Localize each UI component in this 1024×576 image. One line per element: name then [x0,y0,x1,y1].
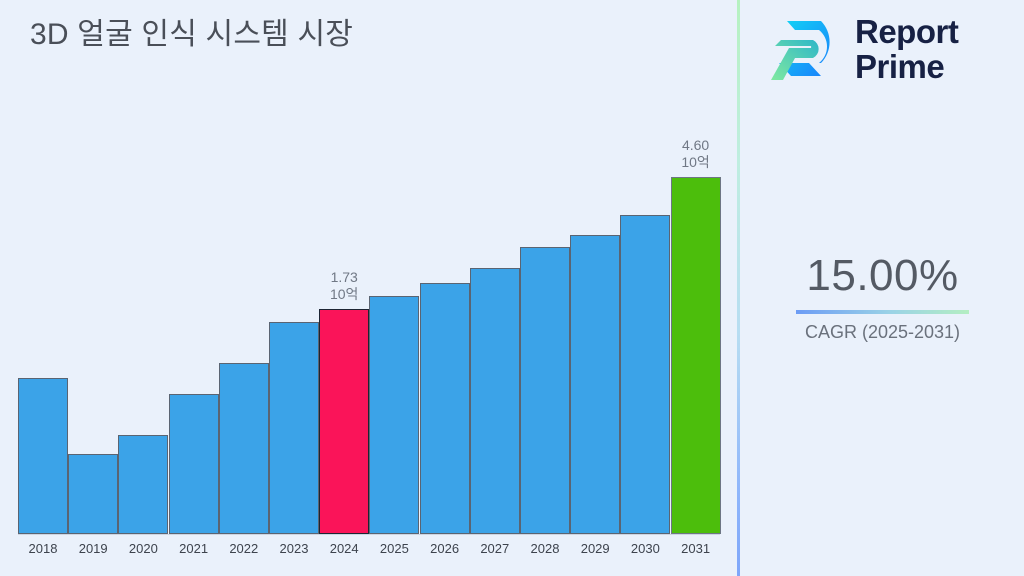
cagr-value: 15.00% [741,250,1024,302]
logo-word-report: Report [855,14,958,49]
logo-wordmark: Report Prime [855,14,958,84]
bar-2027 [470,268,520,534]
cagr-label: CAGR (2025-2031) [741,320,1024,344]
bar-2023 [269,322,319,534]
logo-word-prime: Prime [855,49,958,84]
bar-value-label-2031: 4.60 10억 [651,137,741,171]
report-prime-logo: Report Prime [769,12,1009,90]
cagr-block: 15.00% CAGR (2025-2031) [741,250,1024,344]
logo-mark-icon [769,18,847,84]
bar-2024 [319,309,369,534]
bar-2018 [18,378,68,534]
bar-2028 [520,247,570,534]
bar-2029 [570,235,620,534]
bar-2020 [118,435,168,534]
bar-series: 1.73 10억4.60 10억 [0,0,738,576]
bar-2031 [671,177,721,534]
bar-2019 [68,454,118,534]
bar-2026 [420,283,470,534]
x-axis-tick-labels: 2018201920202021202220232024202520262027… [0,541,738,571]
x-tick-2031: 2031 [666,541,726,556]
cagr-divider-rule [796,310,969,314]
bar-2025 [369,296,419,534]
panel-divider [737,0,740,576]
bar-2022 [219,363,269,534]
chart-panel: 3D 얼굴 인식 시스템 시장 1.73 10억4.60 10억 2018201… [0,0,738,576]
bar-2030 [620,215,670,534]
side-panel: Report Prime 15.00% CAGR (2025-2031) [741,0,1024,576]
bar-2021 [169,394,219,534]
